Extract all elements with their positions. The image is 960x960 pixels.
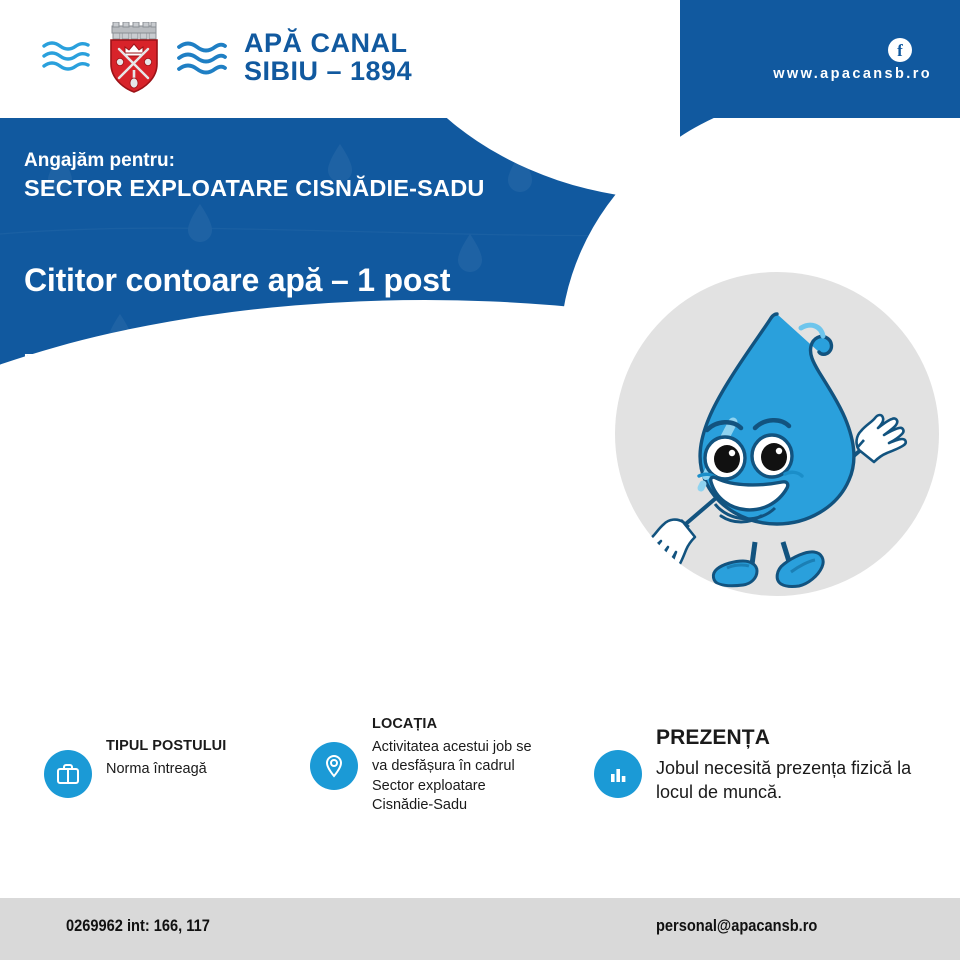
info-block-type: TIPUL POSTULUI Norma întreagă (44, 736, 294, 798)
brand-line-2: SIBIU – 1894 (244, 58, 412, 86)
map-pin-icon (310, 742, 358, 790)
info-desc: Jobul necesită prezența fizică la locul … (656, 756, 924, 805)
requirement-text: abilități de comunicare, dinamic. (84, 531, 560, 559)
list-item: - studii medii tehnice (instalator, elec… (60, 444, 560, 499)
info-block-presence: PREZENȚA Jobul necesită prezența fizică … (594, 724, 924, 805)
water-waves-icon (40, 36, 92, 80)
water-waves-icon (176, 36, 228, 80)
brand-logo[interactable]: APĂ CANAL SIBIU – 1894 (40, 22, 412, 94)
footer-bar: 0269962 int: 166, 117 personal@apacansb.… (0, 898, 960, 960)
facebook-icon[interactable]: f (888, 38, 912, 62)
contact-phone[interactable]: 0269962 int: 166, 117 (66, 916, 210, 936)
requirement-text: sănătate și condiție fizică bună, rezist… (84, 501, 560, 529)
job-poster: Angajăm pentru: SECTOR EXPLOATARE CISNĂD… (0, 0, 960, 960)
info-desc: Activitatea acestui job se va desfășura … (372, 738, 540, 815)
bullet-dash: - (60, 444, 70, 499)
info-block-location: LOCAȚIA Activitatea acestui job se va de… (310, 714, 540, 815)
list-item: - abilități de comunicare, dinamic. (60, 531, 560, 559)
requirement-text: studii medii tehnice (instalator, electr… (84, 444, 560, 499)
info-title: PREZENȚA (656, 726, 924, 750)
experience-heading: EXPERIENȚA NECESARĂ: (24, 352, 208, 368)
list-item: - sănătate și condiție fizică bună, rezi… (60, 501, 560, 529)
website-url[interactable]: www.apacansb.ro (773, 66, 932, 82)
bar-chart-icon (594, 750, 642, 798)
info-title: TIPUL POSTULUI (106, 738, 226, 754)
kicker-label: Angajăm pentru: (24, 150, 175, 172)
bullet-dash: - (60, 501, 70, 529)
info-title: LOCAȚIA (372, 716, 540, 732)
briefcase-icon (44, 750, 92, 798)
job-title: Cititor contoare apă – 1 post (24, 262, 450, 299)
sibiu-coat-of-arms (102, 22, 166, 94)
requirements-list: - studii medii tehnice (instalator, elec… (60, 444, 560, 561)
facebook-glyph: f (897, 42, 903, 59)
experience-intro: Pentru acest post ne dorim candidați car… (24, 374, 544, 416)
info-row: TIPUL POSTULUI Norma întreagă LOCAȚIA Ac… (0, 706, 960, 886)
brand-wordmark: APĂ CANAL SIBIU – 1894 (244, 30, 412, 85)
brand-line-1: APĂ CANAL (244, 30, 412, 58)
info-desc: Norma întreagă (106, 760, 226, 779)
contact-email[interactable]: personal@apacansb.ro (656, 916, 817, 936)
water-drop-mascot (615, 272, 939, 596)
bullet-dash: - (60, 531, 70, 559)
sector-title: SECTOR EXPLOATARE CISNĂDIE-SADU (24, 175, 485, 202)
